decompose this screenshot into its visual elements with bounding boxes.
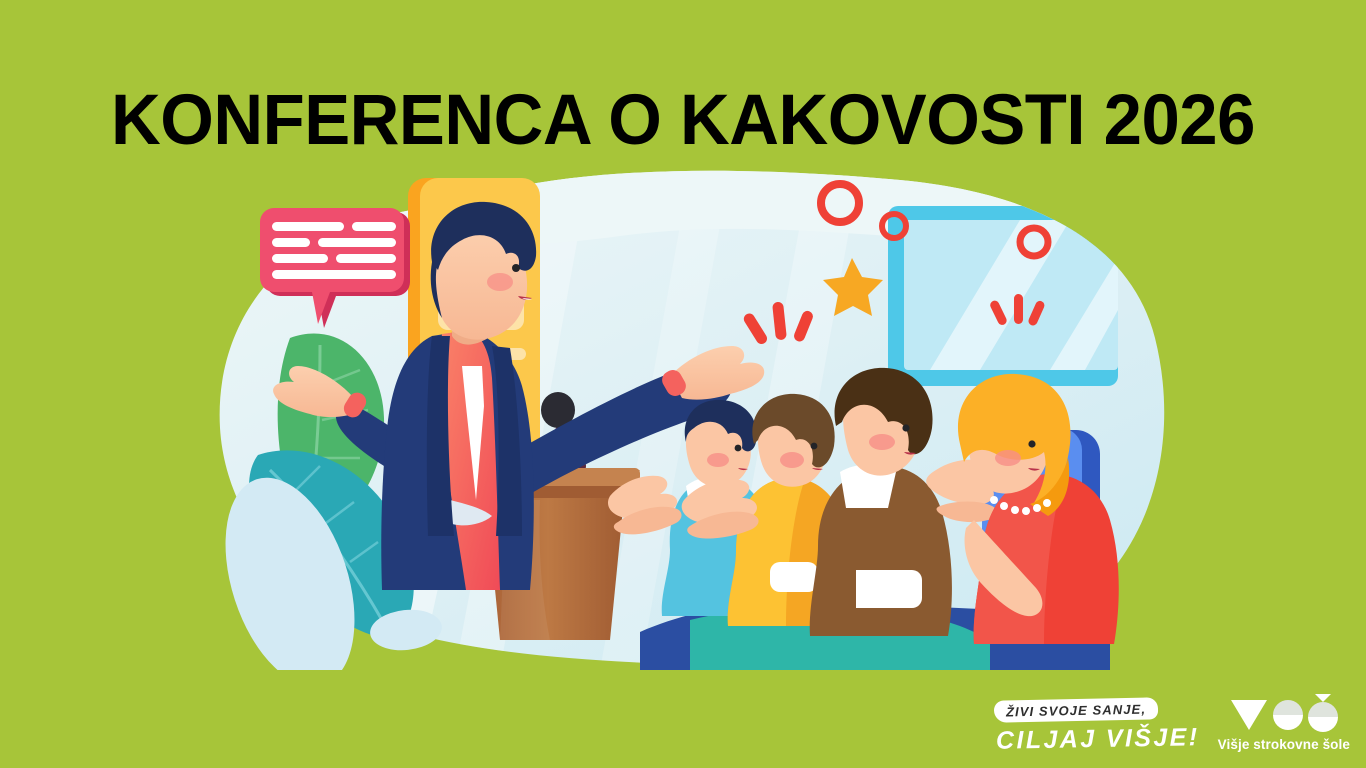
page-title: KONFERENCA O KAKOVOSTI 2026	[20, 82, 1345, 160]
conference-illustration	[170, 170, 1180, 670]
slogan-main: CILJAJ VIŠJE!	[996, 722, 1200, 756]
conference-poster-slide: KONFERENCA O KAKOVOSTI 2026	[0, 0, 1366, 768]
brand-block: Višje strokovne šole	[1218, 692, 1350, 760]
slogan-block: ŽIVI SVOJE SANJE, CILJAJ VIŠJE!	[994, 699, 1199, 760]
brand-logo-lockup: ŽIVI SVOJE SANJE, CILJAJ VIŠJE! Višje st…	[994, 684, 1350, 760]
window-icon	[888, 206, 1118, 386]
triangle-two-circles-logo-icon	[1229, 692, 1339, 734]
slogan-bubble: ŽIVI SVOJE SANJE,	[994, 697, 1159, 722]
brand-name: Višje strokovne šole	[1218, 737, 1350, 752]
